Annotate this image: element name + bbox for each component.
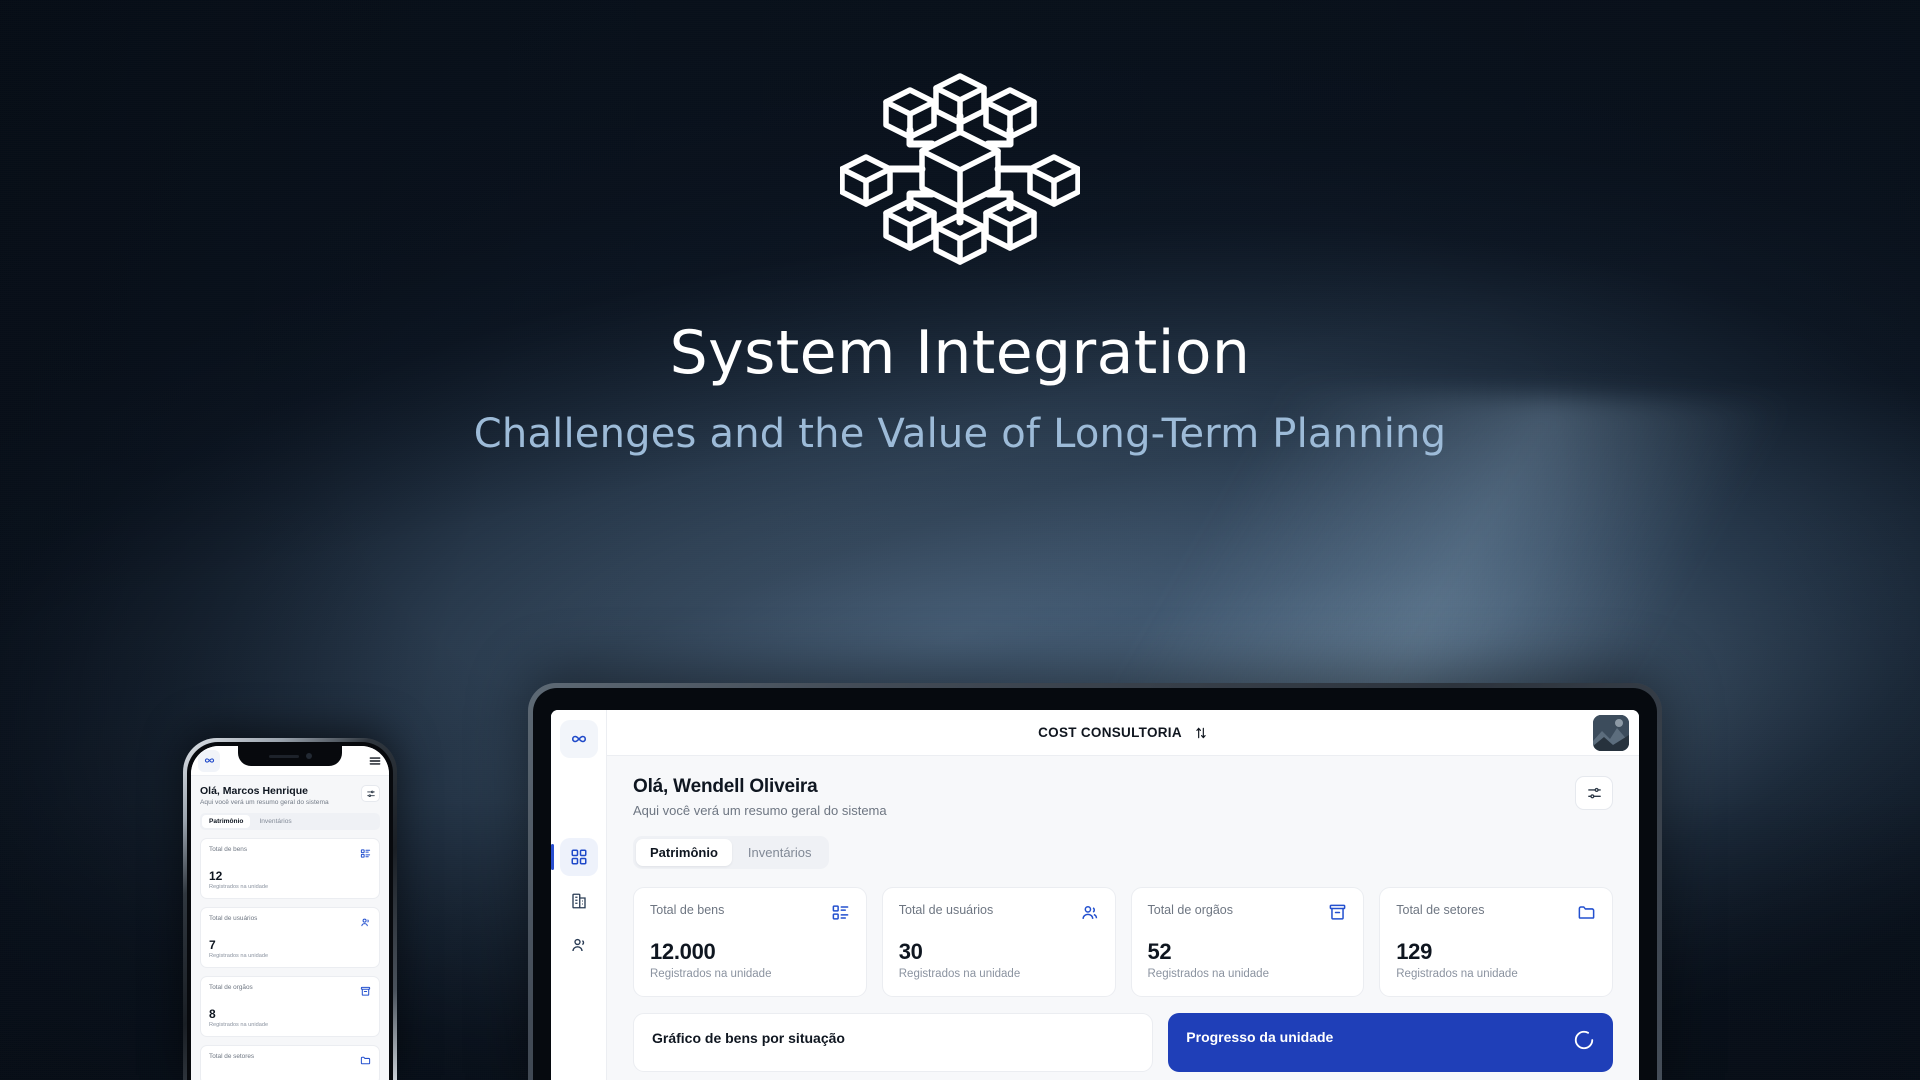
stat-footer: Registrados na unidade — [209, 953, 371, 959]
stat-value: 52 — [1148, 939, 1348, 965]
stat-label: Total de bens — [209, 846, 247, 853]
stat-card-orgaos[interactable]: Total de orgãos 52 Registrados na unidad… — [1131, 887, 1365, 997]
phone-stat-card-setores[interactable]: Total de setores — [200, 1045, 380, 1080]
tablet-bezel: COST CONSULTORIA Olá, Wendell O — [533, 688, 1657, 1080]
chart-card-title: Gráfico de bens por situação — [652, 1030, 1134, 1046]
stat-footer: Registrados na unidade — [1148, 968, 1348, 980]
users-icon — [1080, 903, 1099, 927]
archive-box-icon — [360, 984, 371, 1002]
stat-footer: Registrados na unidade — [209, 884, 371, 890]
tab-patrimonio[interactable]: Patrimônio — [636, 839, 732, 866]
phone-tab-inventarios[interactable]: Inventários — [252, 815, 298, 828]
phone-tab-patrimonio[interactable]: Patrimônio — [202, 815, 250, 828]
phone-greeting-title: Olá, Marcos Henrique — [200, 785, 329, 797]
stat-value: 8 — [209, 1007, 371, 1021]
phone-camera — [306, 753, 312, 759]
hamburger-menu-icon[interactable] — [368, 754, 382, 768]
folder-icon — [360, 1053, 371, 1071]
phone-speaker — [269, 755, 299, 758]
tablet-topbar: COST CONSULTORIA — [607, 710, 1639, 756]
network-cubes-icon — [840, 70, 1080, 268]
avatar[interactable] — [1593, 715, 1629, 751]
page-title: System Integration — [0, 322, 1920, 385]
stat-value: 7 — [209, 938, 371, 952]
greeting-row: Olá, Wendell Oliveira Aqui você verá um … — [633, 776, 1613, 818]
phone-tab-group: Patrimônio Inventários — [200, 813, 380, 830]
stat-footer: Registrados na unidade — [1396, 968, 1596, 980]
stat-label: Total de orgãos — [209, 984, 253, 991]
stat-card-group: Total de bens 12.000 Registrados na unid… — [633, 887, 1613, 997]
phone-screen: Olá, Marcos Henrique Aqui você verá um r… — [191, 746, 389, 1080]
stat-label: Total de setores — [209, 1053, 254, 1060]
infinity-logo-icon[interactable] — [198, 750, 220, 772]
phone-stat-card-orgaos[interactable]: Total de orgãos 8 Registrados na unidade — [200, 976, 380, 1037]
sidebar-item-dashboard[interactable] — [560, 838, 598, 876]
hero-section: System Integration Challenges and the Va… — [0, 70, 1920, 457]
stat-label: Total de bens — [650, 903, 724, 917]
stat-value: 12.000 — [650, 939, 850, 965]
phone-greeting-subtitle: Aqui você verá um resumo geral do sistem… — [200, 799, 329, 806]
progress-ring-icon — [1573, 1029, 1595, 1056]
stat-value: 129 — [1396, 939, 1596, 965]
stat-card-setores[interactable]: Total de setores 129 Registrados na unid… — [1379, 887, 1613, 997]
stat-footer: Registrados na unidade — [899, 968, 1099, 980]
stat-card-bens[interactable]: Total de bens 12.000 Registrados na unid… — [633, 887, 867, 997]
phone-mockup: Olá, Marcos Henrique Aqui você verá um r… — [183, 738, 397, 1080]
phone-notch — [238, 746, 342, 766]
tablet-content: Olá, Wendell Oliveira Aqui você verá um … — [607, 756, 1639, 1080]
phone-stat-card-bens[interactable]: Total de bens 12 Registrados na unidade — [200, 838, 380, 899]
stat-label: Total de orgãos — [1148, 903, 1233, 917]
stat-card-usuarios[interactable]: Total de usuários 30 Registrados na unid… — [882, 887, 1116, 997]
tablet-screen: COST CONSULTORIA Olá, Wendell O — [551, 710, 1639, 1080]
page-subtitle: Challenges and the Value of Long-Term Pl… — [0, 411, 1920, 457]
phone-greeting-block: Olá, Marcos Henrique Aqui você verá um r… — [200, 785, 329, 806]
greeting-block: Olá, Wendell Oliveira Aqui você verá um … — [633, 776, 887, 818]
tablet-mockup: COST CONSULTORIA Olá, Wendell O — [528, 683, 1662, 1080]
sidebar-item-users[interactable] — [560, 926, 598, 964]
chart-card[interactable]: Gráfico de bens por situação — [633, 1013, 1153, 1072]
phone-bezel: Olá, Marcos Henrique Aqui você verá um r… — [187, 742, 393, 1080]
lower-panels: Gráfico de bens por situação Progresso d… — [633, 1013, 1613, 1072]
users-icon — [360, 915, 371, 933]
archive-box-icon — [1328, 903, 1347, 927]
folder-icon — [1577, 903, 1596, 927]
sidebar-item-building[interactable] — [560, 882, 598, 920]
swap-vertical-icon[interactable] — [1194, 726, 1208, 740]
tablet-main: COST CONSULTORIA Olá, Wendell O — [607, 710, 1639, 1080]
stat-label: Total de usuários — [209, 915, 257, 922]
greeting-title: Olá, Wendell Oliveira — [633, 776, 887, 798]
progress-card-title: Progresso da unidade — [1186, 1029, 1333, 1045]
infinity-logo-icon[interactable] — [560, 720, 598, 758]
stat-footer: Registrados na unidade — [209, 1022, 371, 1028]
phone-greeting-row: Olá, Marcos Henrique Aqui você verá um r… — [200, 785, 380, 806]
stat-label: Total de usuários — [899, 903, 994, 917]
stat-label: Total de setores — [1396, 903, 1484, 917]
tablet-sidebar — [551, 710, 607, 1080]
list-blocks-icon — [360, 846, 371, 864]
tab-group: Patrimônio Inventários — [633, 836, 829, 869]
list-blocks-icon — [831, 903, 850, 927]
sliders-icon[interactable] — [361, 785, 380, 802]
tab-inventarios[interactable]: Inventários — [734, 839, 826, 866]
phone-stat-card-usuarios[interactable]: Total de usuários 7 Registrados na unida… — [200, 907, 380, 968]
organization-name: COST CONSULTORIA — [1038, 725, 1182, 740]
stat-value: 30 — [899, 939, 1099, 965]
sliders-icon[interactable] — [1575, 776, 1613, 810]
greeting-subtitle: Aqui você verá um resumo geral do sistem… — [633, 803, 887, 818]
phone-content: Olá, Marcos Henrique Aqui você verá um r… — [191, 776, 389, 1080]
progress-card[interactable]: Progresso da unidade — [1168, 1013, 1613, 1072]
stat-footer: Registrados na unidade — [650, 968, 850, 980]
stat-value: 12 — [209, 869, 371, 883]
